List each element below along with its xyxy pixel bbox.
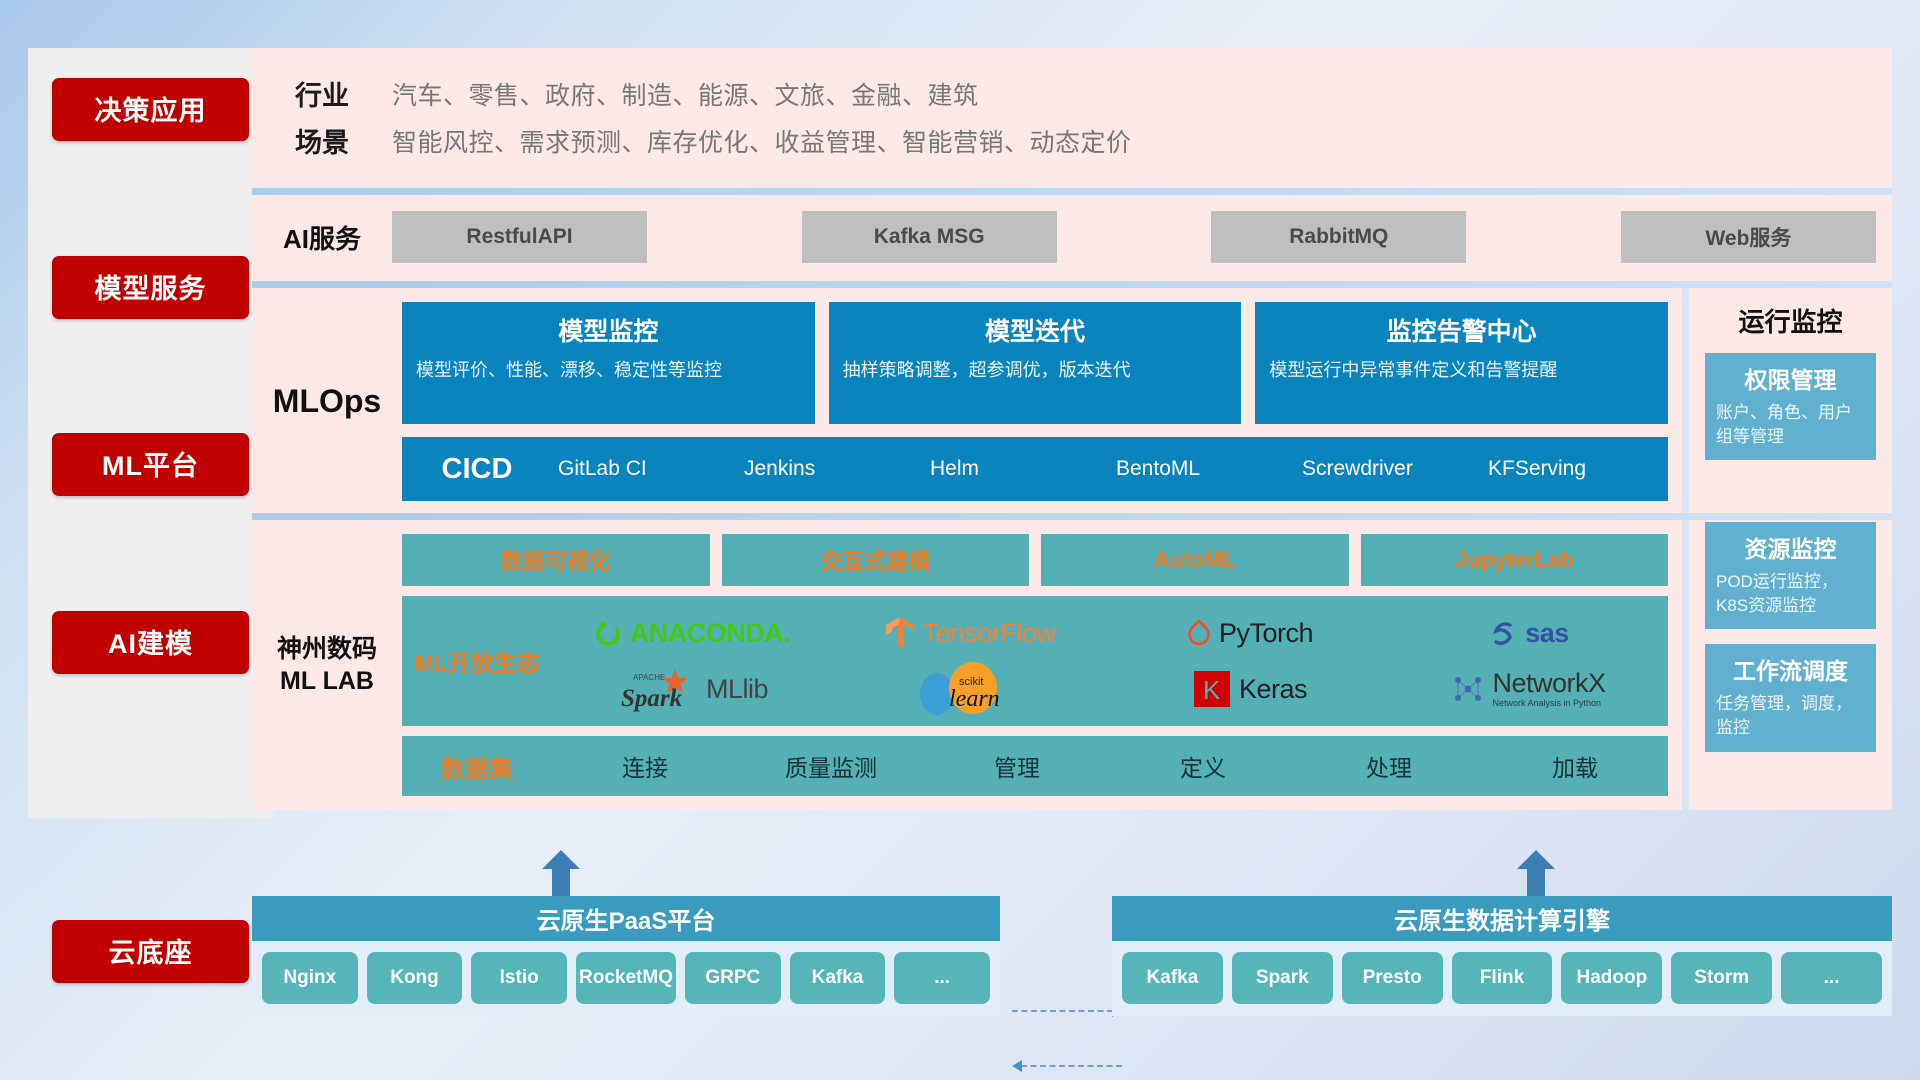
tool-chip-jupyterlab[interactable]: JupyterLab: [1361, 534, 1669, 586]
mlops-card-model-monitoring[interactable]: 模型监控 模型评价、性能、漂移、稳定性等监控: [402, 302, 815, 424]
monitor-card-desc: 任务管理，调度，监控: [1716, 692, 1865, 740]
stack-layer-rail: 决策应用 模型服务 ML平台 AI建模: [28, 48, 273, 818]
mlops-card-title: 监控告警中心: [1269, 312, 1654, 348]
dataset-item-process[interactable]: 处理: [1296, 749, 1482, 783]
band-ai-modeling: 神州数码 ML LAB 数据可视化 交互式建模 AutoML JupyterLa…: [252, 513, 1892, 810]
spark-apache-word: APACHE: [633, 673, 665, 682]
monitor-card-permission[interactable]: 权限管理 账户、角色、用户组等管理: [1705, 353, 1876, 460]
dataset-item-connect[interactable]: 连接: [552, 749, 738, 783]
cicd-item-bentoml[interactable]: BentoML: [1110, 458, 1296, 480]
rail-item-cloud-base[interactable]: 云底座: [52, 920, 249, 983]
arrow-paas-to-engine: [1012, 1010, 1122, 1012]
rail-item-decision-app[interactable]: 决策应用: [52, 78, 249, 141]
mlops-label: MLOps: [252, 302, 402, 501]
ecosystem-logo-grid: ANACONDA. TensorFlow: [552, 605, 1668, 717]
service-chip-restfulapi[interactable]: RestfulAPI: [392, 211, 647, 263]
dataset-item-quality-monitor[interactable]: 质量监测: [738, 749, 924, 783]
cloud-chip-grpc[interactable]: GRPC: [685, 952, 781, 1004]
logo-pytorch[interactable]: PyTorch: [1110, 618, 1389, 649]
modeling-content: 神州数码 ML LAB 数据可视化 交互式建模 AutoML JupyterLa…: [252, 520, 1682, 810]
cloud-chip-istio[interactable]: Istio: [471, 952, 567, 1004]
sas-wordmark: sas: [1525, 618, 1569, 649]
tool-chip-automl[interactable]: AutoML: [1041, 534, 1349, 586]
arrow-up-data-engine: [1517, 850, 1555, 896]
engine-chip-flink[interactable]: Flink: [1452, 952, 1553, 1004]
band-mlops: MLOps 模型监控 模型评价、性能、漂移、稳定性等监控 模型迭代 抽样策略调整…: [252, 281, 1892, 513]
scenario-values: 智能风控、需求预测、库存优化、收益管理、智能营销、动态定价: [392, 123, 1132, 159]
cicd-item-jenkins[interactable]: Jenkins: [738, 458, 924, 480]
networkx-tagline: Network Analysis in Python: [1492, 699, 1605, 708]
tool-chip-data-visualization[interactable]: 数据可视化: [402, 534, 710, 586]
cloud-data-engine-block: 云原生数据计算引擎 Kafka Spark Presto Flink Hadoo…: [1112, 896, 1892, 1016]
dataset-item-manage[interactable]: 管理: [924, 749, 1110, 783]
modeling-body: 数据可视化 交互式建模 AutoML JupyterLab ML开放生态: [402, 534, 1682, 796]
industry-label: 行业: [252, 74, 392, 113]
cloud-base-area: 云原生PaaS平台 Nginx Kong Istio RocketMQ GRPC…: [252, 850, 1892, 1050]
cloud-data-engine-title: 云原生数据计算引擎: [1112, 896, 1892, 941]
cloud-chip-more[interactable]: ...: [894, 952, 990, 1004]
rail-item-ml-platform[interactable]: ML平台: [52, 433, 249, 496]
mlops-card-alert-center[interactable]: 监控告警中心 模型运行中异常事件定义和告警提醒: [1255, 302, 1668, 424]
scenario-row: 场景 智能风控、需求预测、库存优化、收益管理、智能营销、动态定价: [252, 117, 1892, 164]
cicd-bar: CICD GitLab CI Jenkins Helm BentoML Scre…: [402, 437, 1668, 501]
scenario-label: 场景: [252, 121, 392, 160]
spark-wordmark: Spark: [621, 685, 683, 712]
monitor-card-title: 工作流调度: [1716, 652, 1865, 686]
industry-row: 行业 汽车、零售、政府、制造、能源、文旅、金融、建筑: [252, 70, 1892, 117]
cloud-chip-kong[interactable]: Kong: [367, 952, 463, 1004]
dataset-item-load[interactable]: 加载: [1482, 749, 1668, 783]
engine-chip-spark[interactable]: Spark: [1232, 952, 1333, 1004]
mlops-body: 模型监控 模型评价、性能、漂移、稳定性等监控 模型迭代 抽样策略调整，超参调优，…: [402, 302, 1682, 501]
cloud-chip-kafka[interactable]: Kafka: [790, 952, 886, 1004]
engine-chip-hadoop[interactable]: Hadoop: [1561, 952, 1662, 1004]
rail-item-ai-modeling[interactable]: AI建模: [52, 611, 249, 674]
cicd-item-screwdriver[interactable]: Screwdriver: [1296, 458, 1482, 480]
spark-icon: APACHE Spark: [615, 666, 699, 712]
engine-chip-storm[interactable]: Storm: [1671, 952, 1772, 1004]
logo-anaconda[interactable]: ANACONDA.: [552, 618, 831, 649]
monitor-column-bottom: 资源监控 POD运行监控，K8S资源监控 工作流调度 任务管理，调度，监控: [1682, 520, 1892, 810]
mlops-card-title: 模型监控: [416, 312, 801, 348]
networkx-icon: [1451, 672, 1485, 706]
keras-k-letter: K: [1203, 675, 1221, 705]
scikit-learn-icon: scikit learn: [911, 661, 1031, 717]
monitor-card-title: 权限管理: [1716, 361, 1865, 395]
cloud-paas-chip-group: Nginx Kong Istio RocketMQ GRPC Kafka ...: [252, 941, 1000, 1016]
industry-values: 汽车、零售、政府、制造、能源、文旅、金融、建筑: [392, 76, 979, 112]
dataset-row: 数据集 连接 质量监测 管理 定义 处理 加载: [402, 736, 1668, 796]
dataset-item-group: 连接 质量监测 管理 定义 处理 加载: [552, 749, 1668, 783]
cicd-item-kfserving[interactable]: KFServing: [1482, 458, 1668, 480]
ml-lab-label-line1: 神州数码: [277, 633, 377, 666]
cloud-paas-block: 云原生PaaS平台 Nginx Kong Istio RocketMQ GRPC…: [252, 896, 1000, 1016]
rail-spacer: [52, 141, 249, 256]
tensorflow-icon: [885, 616, 915, 650]
learn-word: learn: [949, 686, 1000, 712]
logo-sas[interactable]: sas: [1389, 618, 1668, 649]
cicd-item-group: GitLab CI Jenkins Helm BentoML Screwdriv…: [552, 458, 1668, 480]
band-industry-scenario: 行业 汽车、零售、政府、制造、能源、文旅、金融、建筑 场景 智能风控、需求预测、…: [252, 48, 1892, 188]
monitor-card-desc: POD运行监控，K8S资源监控: [1716, 570, 1865, 618]
rail-item-model-service[interactable]: 模型服务: [52, 256, 249, 319]
sas-icon: [1488, 618, 1518, 648]
tool-chip-interactive-modeling[interactable]: 交互式建模: [722, 534, 1030, 586]
cloud-chip-rocketmq[interactable]: RocketMQ: [576, 952, 676, 1004]
keras-wordmark: Keras: [1239, 674, 1307, 705]
cloud-chip-nginx[interactable]: Nginx: [262, 952, 358, 1004]
logo-keras[interactable]: K Keras: [1110, 669, 1389, 709]
service-chip-web-service[interactable]: Web服务: [1621, 211, 1876, 263]
ai-service-label: AI服务: [252, 219, 392, 256]
mlops-card-desc: 抽样策略调整，超参调优，版本迭代: [843, 357, 1228, 383]
mlops-card-title: 模型迭代: [843, 312, 1228, 348]
dataset-item-define[interactable]: 定义: [1110, 749, 1296, 783]
monitor-card-desc: 账户、角色、用户组等管理: [1716, 401, 1865, 449]
arrow-engine-to-paas: [1012, 1065, 1122, 1067]
arrow-up-paas: [542, 850, 580, 896]
pytorch-icon: [1186, 618, 1212, 648]
monitor-card-resource[interactable]: 资源监控 POD运行监控，K8S资源监控: [1705, 522, 1876, 629]
tensorflow-wordmark: TensorFlow: [922, 618, 1055, 649]
logo-networkx[interactable]: NetworkX Network Analysis in Python: [1389, 670, 1668, 708]
ml-ecosystem-label: ML开放生态: [402, 644, 552, 678]
monitor-card-workflow[interactable]: 工作流调度 任务管理，调度，监控: [1705, 644, 1876, 751]
anaconda-wordmark: ANACONDA.: [630, 618, 791, 649]
engine-chip-more[interactable]: ...: [1781, 952, 1882, 1004]
ml-lab-label-line2: ML LAB: [280, 665, 374, 698]
monitor-column-top: 运行监控 权限管理 账户、角色、用户组等管理: [1682, 288, 1892, 513]
mlops-card-group: 模型监控 模型评价、性能、漂移、稳定性等监控 模型迭代 抽样策略调整，超参调优，…: [402, 302, 1668, 424]
service-chip-kafka-msg[interactable]: Kafka MSG: [802, 211, 1057, 263]
ml-ecosystem-row: ML开放生态 ANACONDA.: [402, 596, 1668, 726]
band-ai-service: AI服务 RestfulAPI Kafka MSG RabbitMQ Web服务: [252, 188, 1892, 281]
engine-chip-kafka[interactable]: Kafka: [1122, 952, 1223, 1004]
mllib-wordmark: MLlib: [706, 674, 768, 705]
modeling-tool-group: 数据可视化 交互式建模 AutoML JupyterLab: [402, 534, 1668, 586]
rail-spacer: [52, 496, 249, 611]
mlops-content: MLOps 模型监控 模型评价、性能、漂移、稳定性等监控 模型迭代 抽样策略调整…: [252, 288, 1682, 513]
service-chip-rabbitmq[interactable]: RabbitMQ: [1211, 211, 1466, 263]
rail-spacer: [52, 319, 249, 434]
rail-spacer: [52, 674, 249, 789]
architecture-stack: 行业 汽车、零售、政府、制造、能源、文旅、金融、建筑 场景 智能风控、需求预测、…: [252, 48, 1892, 810]
keras-icon: K: [1192, 669, 1232, 709]
logo-scikit-learn[interactable]: scikit learn: [831, 661, 1110, 717]
dataset-label: 数据集: [402, 749, 552, 784]
ai-service-chip-group: RestfulAPI Kafka MSG RabbitMQ Web服务: [392, 211, 1892, 263]
cicd-item-gitlab-ci[interactable]: GitLab CI: [552, 458, 738, 480]
cloud-paas-title: 云原生PaaS平台: [252, 896, 1000, 941]
engine-chip-presto[interactable]: Presto: [1342, 952, 1443, 1004]
monitor-card-title: 资源监控: [1716, 530, 1865, 564]
anaconda-icon: [593, 618, 623, 648]
mlops-card-model-iteration[interactable]: 模型迭代 抽样策略调整，超参调优，版本迭代: [829, 302, 1242, 424]
ml-lab-label: 神州数码 ML LAB: [252, 534, 402, 796]
networkx-wordmark: NetworkX: [1492, 670, 1605, 697]
mlops-card-desc: 模型评价、性能、漂移、稳定性等监控: [416, 357, 801, 383]
monitor-column-title: 运行监控: [1705, 302, 1876, 339]
cicd-label: CICD: [402, 453, 552, 486]
cloud-engine-chip-group: Kafka Spark Presto Flink Hadoop Storm ..…: [1112, 941, 1892, 1016]
mlops-card-desc: 模型运行中异常事件定义和告警提醒: [1269, 357, 1654, 383]
logo-spark-mllib[interactable]: APACHE Spark MLlib: [552, 666, 831, 712]
pytorch-wordmark: PyTorch: [1219, 618, 1313, 649]
logo-tensorflow[interactable]: TensorFlow: [831, 616, 1110, 650]
cicd-item-helm[interactable]: Helm: [924, 458, 1110, 480]
